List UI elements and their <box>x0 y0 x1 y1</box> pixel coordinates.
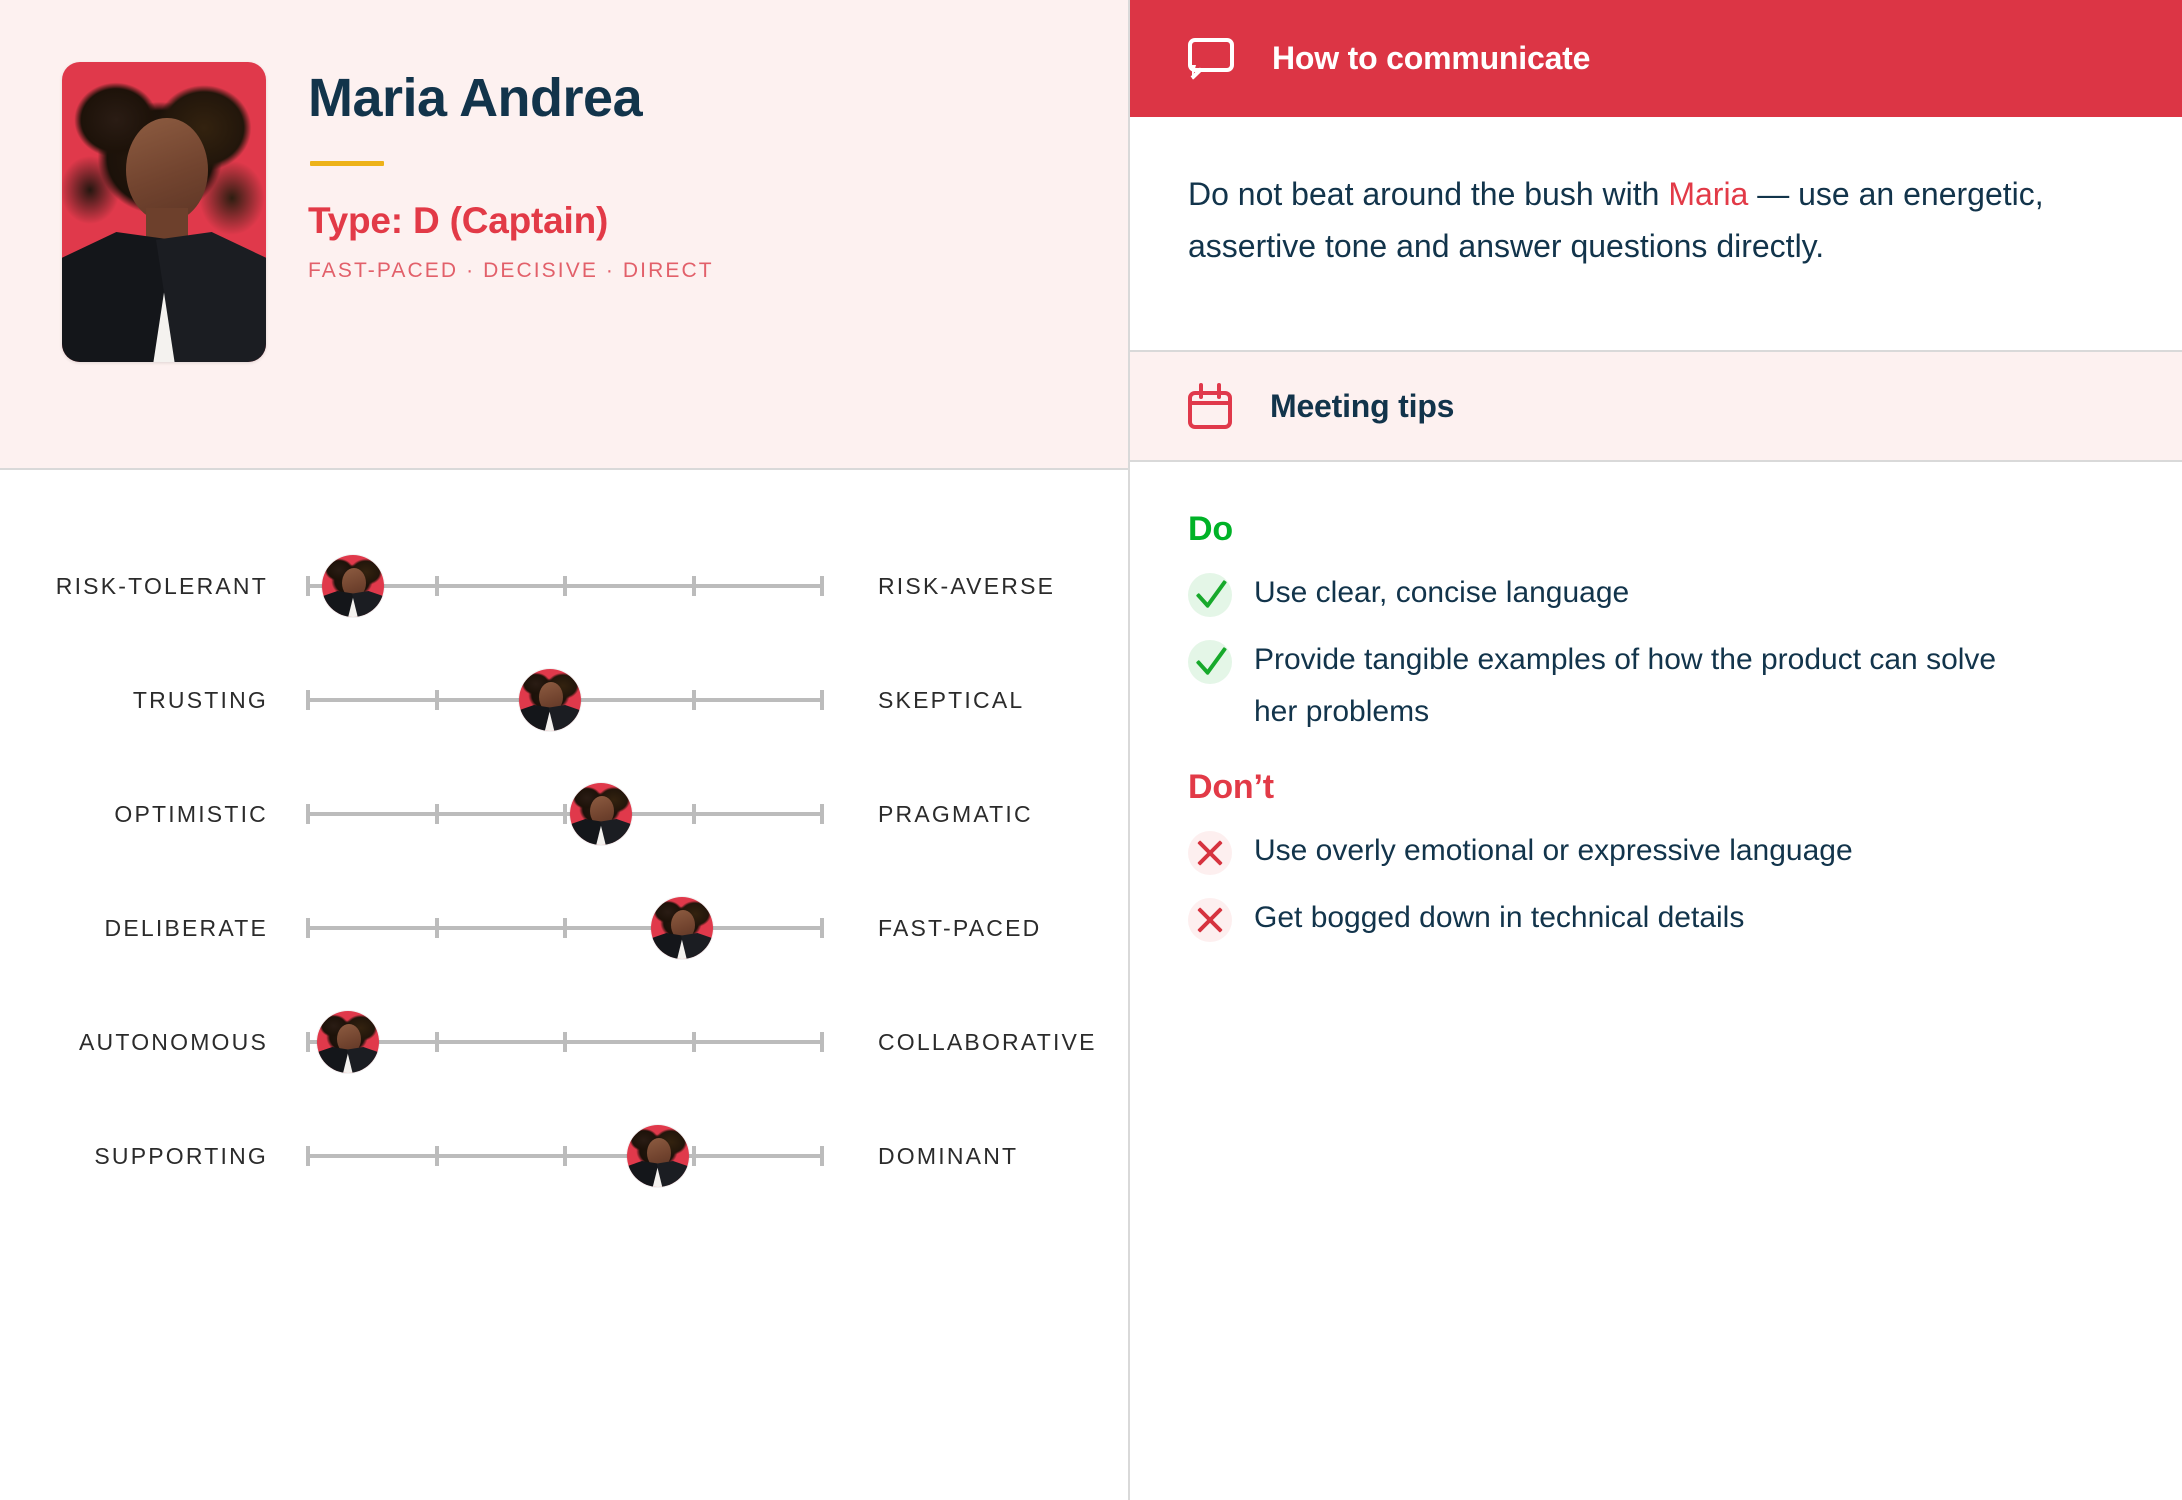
spectrum-marker-avatar[interactable] <box>317 1011 379 1073</box>
spectrum-tick <box>435 804 439 824</box>
cross-icon <box>1188 831 1232 875</box>
spectrum-label-right: PRAGMATIC <box>878 801 1033 828</box>
do-heading: Do <box>1188 510 2120 549</box>
avatar <box>62 62 266 362</box>
how-to-communicate-header: How to communicate <box>1130 0 2182 117</box>
calendar-icon <box>1188 383 1232 429</box>
personality-type-label: Type: D (Captain) <box>308 200 714 242</box>
spectrum-marker-avatar[interactable] <box>322 555 384 617</box>
do-item: Provide tangible examples of how the pro… <box>1188 632 2120 738</box>
do-list: Use clear, concise languageProvide tangi… <box>1188 565 2120 738</box>
spectrum-tick <box>435 918 439 938</box>
meeting-tips-header: Meeting tips <box>1130 350 2182 462</box>
personality-profile-card: Maria Andrea Type: D (Captain) FAST-PACE… <box>0 0 2182 1500</box>
how-to-communicate-body: Do not beat around the bush with Maria —… <box>1130 117 2182 350</box>
communicate-text-before: Do not beat around the bush with <box>1188 176 1668 212</box>
spectrum-label-left: RISK-TOLERANT <box>56 573 268 600</box>
trait-keywords: FAST-PACED · DECISIVE · DIRECT <box>308 259 714 283</box>
spectrum-label-left: OPTIMISTIC <box>114 801 268 828</box>
spectrum-tick <box>306 1146 310 1166</box>
spectrum-label-right: FAST-PACED <box>878 915 1041 942</box>
spectrum-tick <box>820 1032 824 1052</box>
dont-heading: Don’t <box>1188 768 2120 807</box>
spectrum-row: OPTIMISTICPRAGMATIC <box>0 784 1130 844</box>
spectrum-tick <box>692 690 696 710</box>
dont-item: Use overly emotional or expressive langu… <box>1188 823 2120 877</box>
spectrum-row: DELIBERATEFAST-PACED <box>0 898 1130 958</box>
profile-header: Maria Andrea Type: D (Captain) FAST-PACE… <box>0 0 1128 470</box>
spectrum-label-left: AUTONOMOUS <box>79 1029 268 1056</box>
spectrum-tick <box>435 690 439 710</box>
communicate-highlight-name: Maria <box>1668 176 1748 212</box>
spectrum-row: SUPPORTINGDOMINANT <box>0 1126 1130 1186</box>
spectrum-tick <box>563 576 567 596</box>
spectrum-tick <box>306 1032 310 1052</box>
spectrum-tick <box>563 1146 567 1166</box>
spectrum-tick <box>820 1146 824 1166</box>
spectrum-tick <box>306 804 310 824</box>
spectrum-tick <box>435 1032 439 1052</box>
portrait-jacket-left <box>62 232 172 362</box>
how-to-communicate-title: How to communicate <box>1272 40 1590 77</box>
meeting-tips-body: Do Use clear, concise languageProvide ta… <box>1130 462 2182 1500</box>
spectrum-tick <box>563 1032 567 1052</box>
spectrum-label-left: DELIBERATE <box>105 915 268 942</box>
cross-icon <box>1188 898 1232 942</box>
portrait-face <box>126 118 208 222</box>
gold-divider <box>310 161 384 166</box>
spectrum-tick <box>306 576 310 596</box>
spectrum-label-right: DOMINANT <box>878 1143 1018 1170</box>
spectrum-tick <box>306 690 310 710</box>
communicate-paragraph: Do not beat around the bush with Maria —… <box>1188 169 2120 273</box>
check-icon <box>1188 640 1232 684</box>
spectrum-tick <box>692 576 696 596</box>
spectrum-tick <box>692 1146 696 1166</box>
spectrum-tick <box>435 1146 439 1166</box>
spectrum-tick <box>820 804 824 824</box>
spectrum-tick <box>692 1032 696 1052</box>
spectrum-marker-avatar[interactable] <box>570 783 632 845</box>
spectrum-label-right: COLLABORATIVE <box>878 1029 1097 1056</box>
portrait-jacket-right <box>156 232 266 362</box>
meeting-tips-title: Meeting tips <box>1270 388 1454 425</box>
spectrum-row: TRUSTINGSKEPTICAL <box>0 670 1130 730</box>
spectrum-row: AUTONOMOUSCOLLABORATIVE <box>0 1012 1130 1072</box>
personality-spectrum-chart: RISK-TOLERANTRISK-AVERSETRUSTINGSKEPTICA… <box>0 470 1128 1500</box>
speech-bubble-icon <box>1188 38 1234 80</box>
dont-list: Use overly emotional or expressive langu… <box>1188 823 2120 944</box>
do-item: Use clear, concise language <box>1188 565 2120 619</box>
spectrum-tick <box>692 804 696 824</box>
spectrum-marker-avatar[interactable] <box>627 1125 689 1187</box>
spectrum-tick <box>435 576 439 596</box>
page-title: Maria Andrea <box>308 70 714 127</box>
spectrum-marker-avatar[interactable] <box>651 897 713 959</box>
guidance-panel: How to communicate Do not beat around th… <box>1130 0 2182 1500</box>
dont-item-text: Get bogged down in technical details <box>1254 890 1744 944</box>
do-item-text: Provide tangible examples of how the pro… <box>1254 632 2024 738</box>
spectrum-label-left: SUPPORTING <box>94 1143 268 1170</box>
dont-item-text: Use overly emotional or expressive langu… <box>1254 823 1853 877</box>
spectrum-tick <box>306 918 310 938</box>
do-item-text: Use clear, concise language <box>1254 565 1629 619</box>
spectrum-row: RISK-TOLERANTRISK-AVERSE <box>0 556 1130 616</box>
spectrum-marker-avatar[interactable] <box>519 669 581 731</box>
profile-text-block: Maria Andrea Type: D (Captain) FAST-PACE… <box>308 62 714 283</box>
spectrum-tick <box>563 804 567 824</box>
spectrum-label-right: SKEPTICAL <box>878 687 1024 714</box>
spectrum-tick <box>820 690 824 710</box>
spectrum-label-right: RISK-AVERSE <box>878 573 1055 600</box>
profile-panel: Maria Andrea Type: D (Captain) FAST-PACE… <box>0 0 1130 1500</box>
spectrum-label-left: TRUSTING <box>133 687 268 714</box>
spectrum-tick <box>563 918 567 938</box>
spectrum-tick <box>820 918 824 938</box>
dont-item: Get bogged down in technical details <box>1188 890 2120 944</box>
spectrum-tick <box>820 576 824 596</box>
check-icon <box>1188 573 1232 617</box>
